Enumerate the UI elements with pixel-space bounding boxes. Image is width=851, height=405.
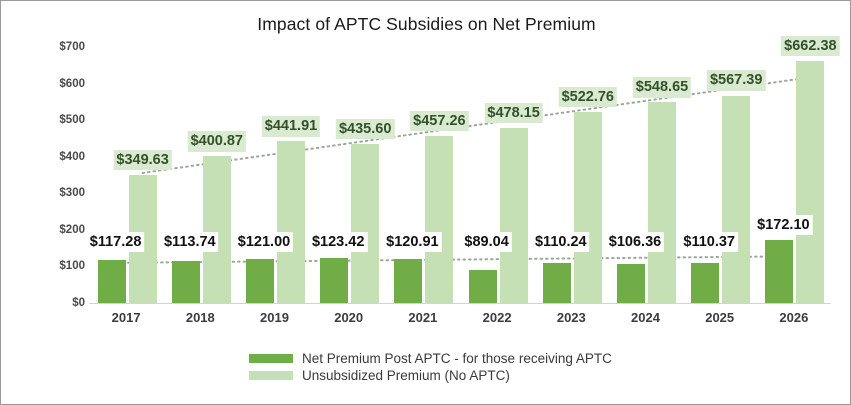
bar-group bbox=[543, 47, 602, 303]
data-label-unsubsidized-premium: $567.39 bbox=[707, 70, 765, 90]
data-label-unsubsidized-premium: $662.38 bbox=[781, 36, 839, 56]
data-label-unsubsidized-premium: $478.15 bbox=[484, 103, 542, 123]
bar-group bbox=[394, 47, 453, 303]
x-axis-tick-label: 2025 bbox=[705, 310, 734, 325]
bar-net-premium[interactable] bbox=[320, 258, 348, 303]
y-axis-tick-label: $300 bbox=[23, 187, 85, 199]
data-label-unsubsidized-premium: $522.76 bbox=[559, 87, 617, 107]
x-axis-tick-label: 2022 bbox=[483, 310, 512, 325]
bar-net-premium[interactable] bbox=[394, 259, 422, 303]
axis-baseline bbox=[89, 303, 831, 304]
bar-group bbox=[172, 47, 231, 303]
bar-net-premium[interactable] bbox=[246, 259, 274, 303]
y-axis-tick-label: $200 bbox=[23, 224, 85, 236]
chart-legend: Net Premium Post APTC - for those receiv… bbox=[1, 349, 851, 385]
data-label-net-premium: $89.04 bbox=[461, 232, 511, 252]
bar-net-premium[interactable] bbox=[765, 240, 793, 303]
x-axis-tick-label: 2020 bbox=[334, 310, 363, 325]
bar-net-premium[interactable] bbox=[98, 260, 126, 303]
bar-group bbox=[765, 47, 824, 303]
bar-net-premium[interactable] bbox=[172, 261, 200, 303]
bar-unsubsidized-premium[interactable] bbox=[648, 102, 676, 303]
bar-net-premium[interactable] bbox=[691, 263, 719, 303]
chart-title: Impact of APTC Subsidies on Net Premium bbox=[1, 14, 851, 35]
plot-area: $349.63$117.28$400.87$113.74$441.91$121.… bbox=[89, 47, 831, 303]
data-label-unsubsidized-premium: $457.26 bbox=[410, 111, 468, 131]
legend-item-net-premium[interactable]: Net Premium Post APTC - for those receiv… bbox=[1, 351, 851, 366]
legend-swatch-light-icon bbox=[249, 371, 293, 380]
bar-group bbox=[246, 47, 305, 303]
y-axis-tick-label: $700 bbox=[23, 41, 85, 53]
legend-swatch-dark-icon bbox=[249, 354, 293, 363]
data-label-net-premium: $110.37 bbox=[680, 232, 738, 252]
data-label-net-premium: $123.42 bbox=[309, 232, 367, 252]
data-label-net-premium: $172.10 bbox=[754, 215, 812, 235]
y-axis: $0$100$200$300$400$500$600$700 bbox=[1, 47, 85, 303]
y-axis-tick-label: $500 bbox=[23, 114, 85, 126]
data-label-net-premium: $106.36 bbox=[606, 232, 664, 252]
bar-net-premium[interactable] bbox=[469, 270, 497, 303]
legend-label-unsubsidized-premium: Unsubsidized Premium (No APTC) bbox=[302, 368, 510, 383]
bar-net-premium[interactable] bbox=[617, 264, 645, 303]
data-label-net-premium: $113.74 bbox=[161, 232, 219, 252]
bar-unsubsidized-premium[interactable] bbox=[425, 136, 453, 303]
bar-unsubsidized-premium[interactable] bbox=[796, 61, 824, 303]
bar-group bbox=[469, 47, 528, 303]
legend-label-net-premium: Net Premium Post APTC - for those receiv… bbox=[302, 351, 612, 366]
x-axis-tick-label: 2019 bbox=[260, 310, 289, 325]
y-axis-tick-label: $0 bbox=[23, 297, 85, 309]
data-label-net-premium: $117.28 bbox=[87, 232, 145, 252]
x-axis-tick-label: 2024 bbox=[631, 310, 660, 325]
chart-container: Impact of APTC Subsidies on Net Premium … bbox=[0, 0, 851, 405]
data-label-net-premium: $110.24 bbox=[532, 232, 590, 252]
data-label-unsubsidized-premium: $435.60 bbox=[336, 119, 394, 139]
x-axis: 2017201820192020202120222023202420252026 bbox=[89, 310, 831, 332]
data-label-unsubsidized-premium: $349.63 bbox=[113, 150, 171, 170]
data-label-unsubsidized-premium: $400.87 bbox=[188, 131, 246, 151]
x-axis-tick-label: 2021 bbox=[408, 310, 437, 325]
x-axis-tick-label: 2026 bbox=[779, 310, 808, 325]
legend-item-unsubsidized-premium[interactable]: Unsubsidized Premium (No APTC) bbox=[1, 368, 851, 383]
y-axis-tick-label: $600 bbox=[23, 78, 85, 90]
y-axis-tick-label: $400 bbox=[23, 151, 85, 163]
bar-unsubsidized-premium[interactable] bbox=[203, 156, 231, 303]
bar-net-premium[interactable] bbox=[543, 263, 571, 303]
bar-group bbox=[320, 47, 379, 303]
bar-unsubsidized-premium[interactable] bbox=[351, 144, 379, 303]
x-axis-tick-label: 2017 bbox=[112, 310, 141, 325]
data-label-unsubsidized-premium: $548.65 bbox=[633, 77, 691, 97]
bar-unsubsidized-premium[interactable] bbox=[500, 128, 528, 303]
data-label-net-premium: $121.00 bbox=[235, 232, 293, 252]
x-axis-tick-label: 2018 bbox=[186, 310, 215, 325]
bar-unsubsidized-premium[interactable] bbox=[277, 141, 305, 303]
data-label-net-premium: $120.91 bbox=[383, 232, 441, 252]
bar-group bbox=[98, 47, 157, 303]
y-axis-tick-label: $100 bbox=[23, 260, 85, 272]
x-axis-tick-label: 2023 bbox=[557, 310, 586, 325]
bar-unsubsidized-premium[interactable] bbox=[574, 112, 602, 303]
bar-unsubsidized-premium[interactable] bbox=[722, 96, 750, 304]
data-label-unsubsidized-premium: $441.91 bbox=[262, 116, 320, 136]
